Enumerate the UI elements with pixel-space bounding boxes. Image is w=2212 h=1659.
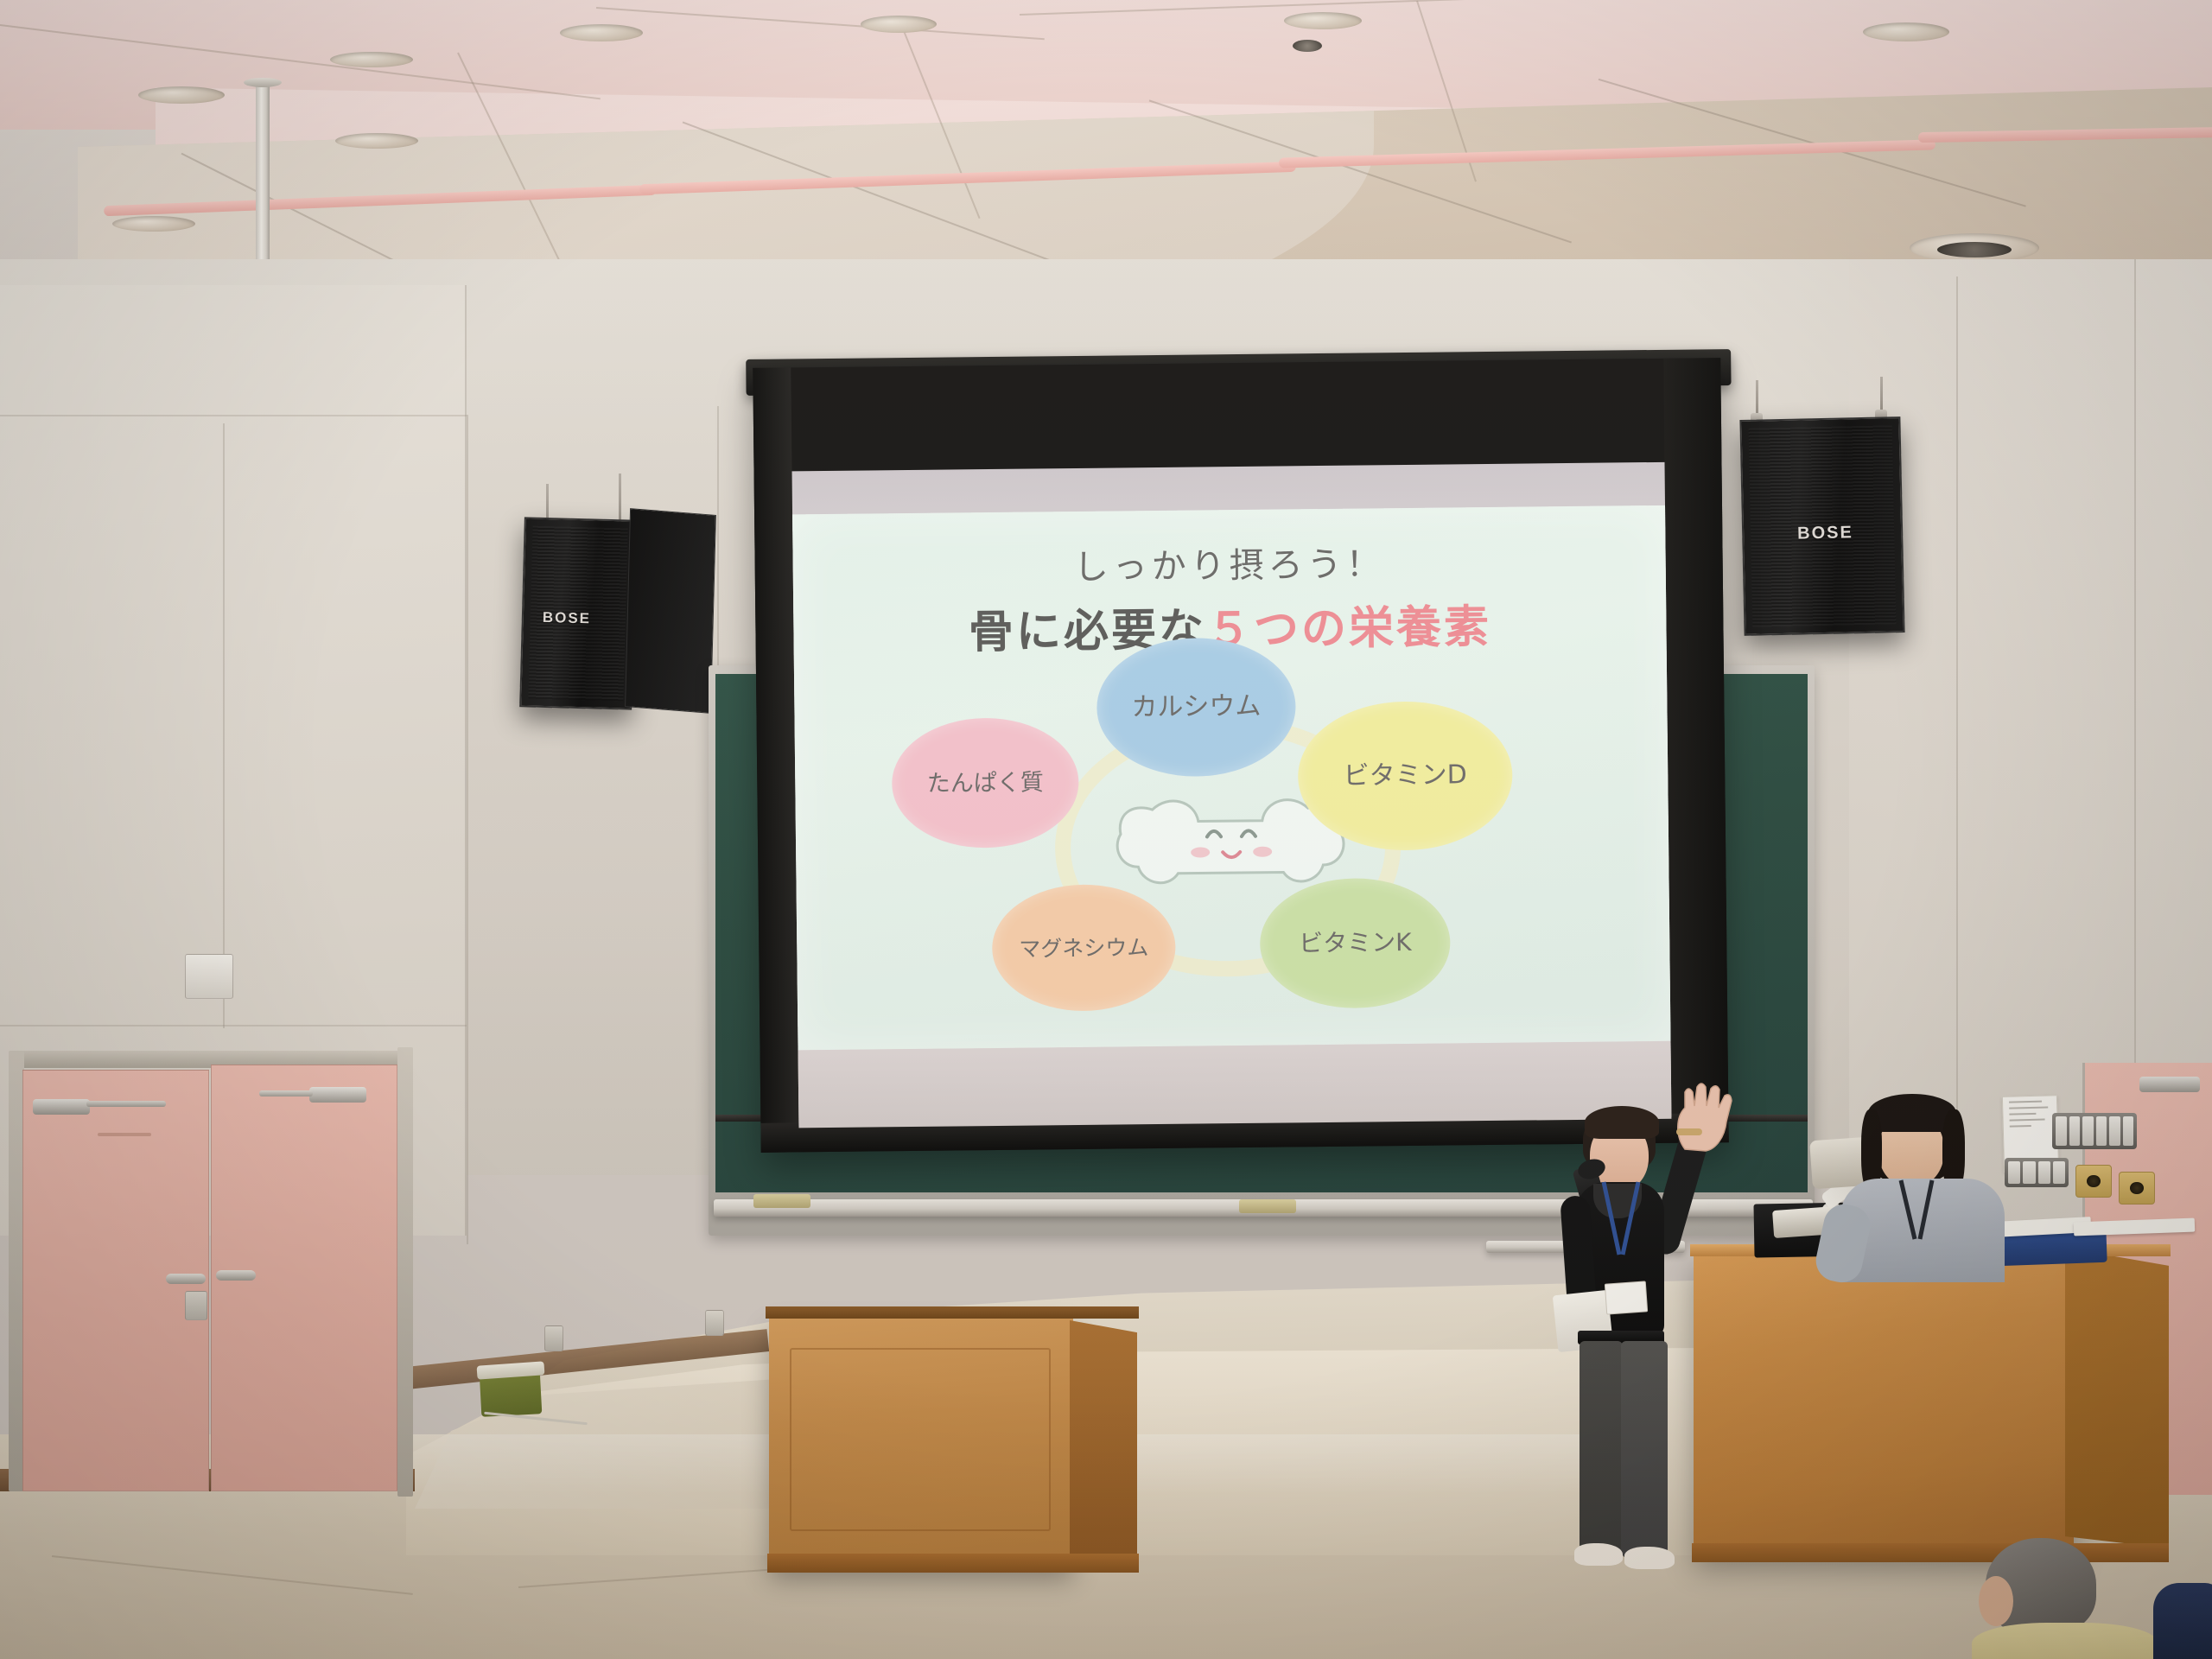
downlight xyxy=(861,16,937,33)
door-handle-left[interactable] xyxy=(166,1274,206,1284)
nutrient-label: マグネシウム xyxy=(1019,937,1148,960)
nutrient-label: カルシウム xyxy=(1131,694,1261,721)
switch-key[interactable] xyxy=(2123,1116,2134,1146)
presenter-raised-hand xyxy=(1666,1082,1740,1153)
projection-surface: しっかり摂ろう！ 骨に必要な５つの栄養素 xyxy=(792,462,1672,1127)
podium-side-panel xyxy=(2065,1248,2169,1548)
nutrient-bubble-vitamin-d: ビタミンD xyxy=(1297,701,1513,852)
wooden-lectern xyxy=(769,1317,1073,1567)
audience-shirt xyxy=(1972,1623,2158,1659)
audience-member-second xyxy=(2153,1583,2212,1659)
bose-speaker-left: BOSE xyxy=(519,517,637,709)
wall-seam xyxy=(0,415,467,416)
nutrient-bubble-vitamin-k: ビタミンK xyxy=(1260,877,1452,1008)
lectern-top-lip xyxy=(766,1306,1139,1319)
assistant-lanyard xyxy=(1889,1179,1944,1255)
door-handle-right[interactable] xyxy=(216,1270,256,1281)
downlight xyxy=(560,24,643,41)
bose-logo-right: BOSE xyxy=(1797,523,1853,543)
door-closer-arm-left xyxy=(86,1101,166,1107)
wall-outlet-small xyxy=(185,1291,207,1320)
switch-key[interactable] xyxy=(2082,1116,2094,1146)
nutrient-label: ビタミンK xyxy=(1299,931,1412,956)
bose-logo-left: BOSE xyxy=(543,609,592,627)
presenter-lanyard xyxy=(1585,1180,1656,1281)
nutrient-bubble-protein: たんぱく質 xyxy=(892,717,1080,849)
downlight xyxy=(138,86,225,104)
door-closer-right xyxy=(309,1087,366,1103)
projected-slide: しっかり摂ろう！ 骨に必要な５つの栄養素 xyxy=(792,505,1670,1051)
light-switch-panel-upper[interactable] xyxy=(2052,1113,2137,1149)
wall-outlet-small xyxy=(705,1310,724,1336)
switch-key[interactable] xyxy=(2069,1116,2081,1146)
door-closer-left xyxy=(33,1099,90,1115)
lectern-side-panel xyxy=(1070,1320,1137,1564)
nutrient-bubble-magnesium: マグネシウム xyxy=(992,884,1177,1012)
presenter xyxy=(1564,1087,1754,1571)
nutrient-label: たんぱく質 xyxy=(927,771,1044,795)
downlight xyxy=(112,216,195,232)
downlight-inner xyxy=(1937,242,2012,257)
switch-key[interactable] xyxy=(2096,1116,2107,1146)
presenter-watch xyxy=(1676,1128,1702,1135)
switch-key[interactable] xyxy=(2038,1161,2050,1184)
door-closer-right-side xyxy=(2139,1077,2200,1092)
light-switch-panel-lower[interactable] xyxy=(2005,1158,2069,1187)
chalkboard-eraser xyxy=(753,1194,810,1208)
nutrient-label: ビタミンD xyxy=(1344,762,1467,789)
wall-junction-box xyxy=(185,954,233,999)
slide-title-line1: しっかり摂ろう！ xyxy=(792,533,1666,593)
switch-key[interactable] xyxy=(2053,1161,2065,1184)
projector-mount-pole xyxy=(256,83,270,278)
presenter-fringe xyxy=(1585,1106,1659,1139)
door-frame-right xyxy=(397,1047,413,1497)
audience-ear-area xyxy=(1979,1576,2013,1626)
wall-outlet-b[interactable] xyxy=(2119,1172,2155,1205)
downlight xyxy=(330,52,413,67)
bose-speaker-left-side xyxy=(625,508,716,714)
lectern-front-panel xyxy=(790,1348,1051,1531)
lectern-base xyxy=(767,1554,1139,1573)
wall-outlet-a[interactable] xyxy=(2075,1165,2112,1198)
door-closer-arm-right xyxy=(259,1090,313,1096)
lecture-hall-photo: BOSE BOSE 旧川 しててにくいOδ しっかり摂ろう！ 骨に必要な５つの xyxy=(0,0,2212,1659)
screen-right-edge xyxy=(1663,358,1729,1143)
projection-screen-assembly: しっかり摂ろう！ 骨に必要な５つの栄養素 xyxy=(753,358,1728,1153)
presenter-name-badge xyxy=(1605,1281,1648,1314)
wall-seam xyxy=(0,1025,467,1027)
wall-seam xyxy=(467,415,468,1244)
bose-speaker-right: BOSE xyxy=(1739,416,1904,636)
presenter-right-shoe xyxy=(1624,1547,1675,1569)
wall-seam xyxy=(223,423,225,1028)
chalkboard-eraser xyxy=(1239,1199,1296,1213)
switch-key[interactable] xyxy=(2109,1116,2120,1146)
screen-lower-wash xyxy=(798,1041,1672,1128)
assistant xyxy=(1832,1096,2013,1268)
switch-key[interactable] xyxy=(2023,1161,2035,1184)
presenter-right-leg xyxy=(1621,1341,1668,1559)
downlight xyxy=(1863,22,1949,41)
downlight xyxy=(335,133,418,149)
wall-outlet-small xyxy=(544,1325,563,1351)
switch-key[interactable] xyxy=(2056,1116,2067,1146)
door-scuff xyxy=(98,1133,151,1136)
ceiling-sensor xyxy=(1293,40,1322,52)
downlight xyxy=(1284,12,1362,29)
presenter-left-shoe xyxy=(1574,1543,1623,1566)
presenter-left-leg xyxy=(1580,1341,1623,1555)
audience-member xyxy=(1975,1538,2148,1659)
